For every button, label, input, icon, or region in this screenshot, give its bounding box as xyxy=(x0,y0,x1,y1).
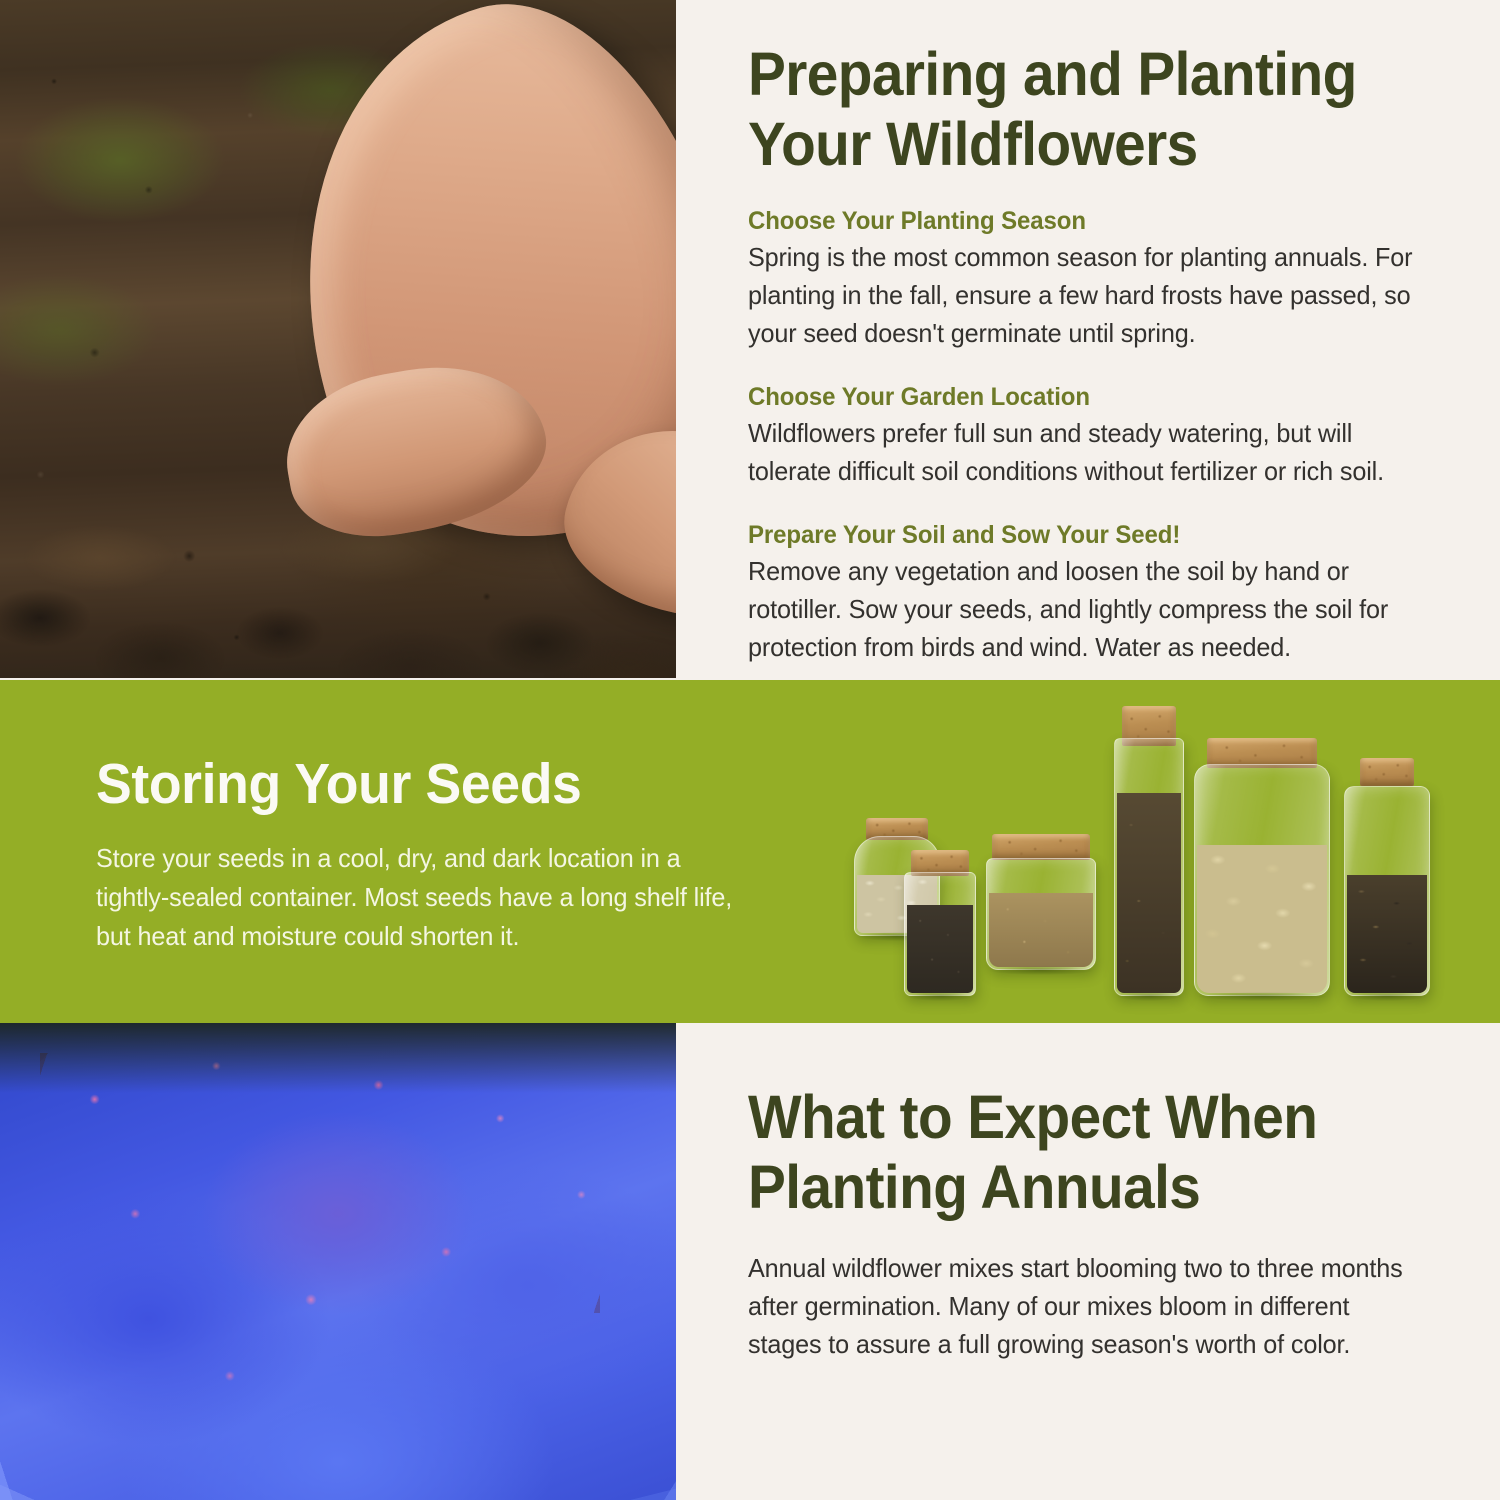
seed-fill-sunflower xyxy=(1347,875,1427,993)
jar-sunflower-seeds xyxy=(1344,758,1430,996)
storing-text-panel: Storing Your Seeds Store your seeds in a… xyxy=(96,752,756,956)
body-planting-season: Spring is the most common season for pla… xyxy=(748,239,1439,353)
title-spacer xyxy=(748,179,1460,207)
jar-glass xyxy=(1344,786,1430,996)
body-garden-location: Wildflowers prefer full sun and steady w… xyxy=(748,415,1439,491)
page-title-line2: Your Wildflowers xyxy=(748,110,1410,180)
jar-shadow xyxy=(1198,992,1326,1001)
subheading-prepare-soil: Prepare Your Soil and Sow Your Seed! xyxy=(748,521,1432,550)
storing-spacer xyxy=(96,817,756,839)
cork-lid xyxy=(1360,758,1414,786)
expect-spacer xyxy=(748,1222,1448,1250)
seeds-in-palm xyxy=(372,424,452,484)
jar-tan-granules xyxy=(986,834,1096,970)
section-what-to-expect: What to Expect When Planting Annuals Ann… xyxy=(0,1023,1500,1500)
flower-background-blur xyxy=(0,1023,676,1093)
block-garden-location: Choose Your Garden Location Wildflowers … xyxy=(748,383,1460,491)
storing-body: Store your seeds in a cool, dry, and dar… xyxy=(96,839,736,956)
seed-fill-brown xyxy=(1117,793,1181,993)
block-prepare-soil: Prepare Your Soil and Sow Your Seed! Rem… xyxy=(748,521,1460,667)
expect-text-panel: What to Expect When Planting Annuals Ann… xyxy=(748,1083,1448,1364)
jar-shadow xyxy=(907,992,973,1001)
photo-seed-jars xyxy=(846,694,1446,1006)
seed-fill-dark xyxy=(907,905,973,993)
jar-glass xyxy=(1194,764,1330,996)
page-title-line1: Preparing and Planting xyxy=(748,40,1410,110)
expect-heading: What to Expect When Planting Annuals xyxy=(748,1083,1399,1222)
jar-glass xyxy=(986,858,1096,970)
seed-fill-tan xyxy=(989,893,1093,967)
jar-shadow xyxy=(1117,992,1181,1001)
photo-hands-sowing-seeds xyxy=(0,0,676,678)
jar-shadow xyxy=(989,966,1093,975)
section-storing-your-seeds: Storing Your Seeds Store your seeds in a… xyxy=(0,680,1500,1023)
subheading-garden-location: Choose Your Garden Location xyxy=(748,383,1432,412)
expect-heading-line2: Planting Annuals xyxy=(748,1153,1399,1223)
jar-glass xyxy=(904,872,976,996)
section-preparing-and-planting: Preparing and Planting Your Wildflowers … xyxy=(0,0,1500,680)
block-planting-season: Choose Your Planting Season Spring is th… xyxy=(748,207,1460,353)
cork-lid xyxy=(992,834,1090,860)
wildflower-planting-infographic: Preparing and Planting Your Wildflowers … xyxy=(0,0,1500,1500)
body-prepare-soil: Remove any vegetation and loosen the soi… xyxy=(748,553,1439,667)
seed-fill-pumpkin xyxy=(1197,845,1327,993)
jar-shadow xyxy=(1347,992,1427,1001)
expect-body: Annual wildflower mixes start blooming t… xyxy=(748,1250,1427,1364)
preparing-text-panel: Preparing and Planting Your Wildflowers … xyxy=(748,40,1460,667)
jar-glass xyxy=(1114,738,1184,996)
photo-blue-cornflower xyxy=(0,1023,676,1500)
jar-dark-seed xyxy=(904,850,976,996)
jar-pumpkin-seeds xyxy=(1194,738,1330,996)
page-title: Preparing and Planting Your Wildflowers xyxy=(748,40,1410,179)
expect-heading-line1: What to Expect When xyxy=(748,1083,1399,1153)
jar-tall-brown-seed xyxy=(1114,706,1184,996)
subheading-planting-season: Choose Your Planting Season xyxy=(748,207,1432,236)
storing-heading: Storing Your Seeds xyxy=(96,752,716,817)
flower-pink-tips xyxy=(0,1023,676,1500)
